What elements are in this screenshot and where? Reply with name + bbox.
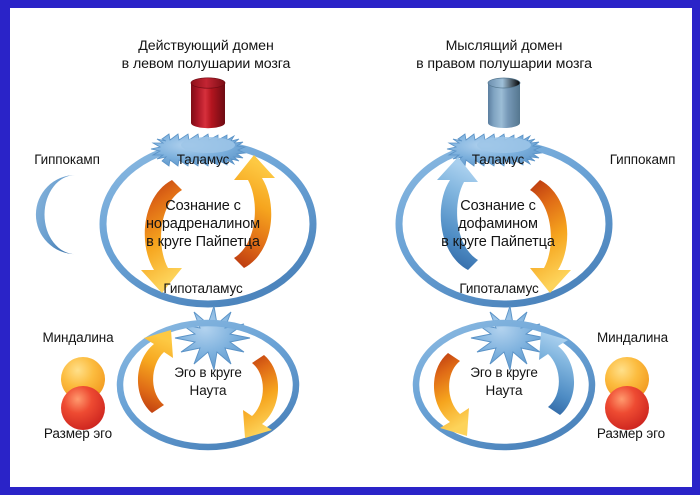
left-amygdala-label: Миндалина bbox=[23, 330, 133, 346]
right-amygdala-label: Миндалина bbox=[575, 330, 690, 346]
right-cylinder-blue bbox=[488, 78, 520, 128]
right-hypothalamus-label: Гипоталамус bbox=[434, 281, 564, 297]
right-header-line1: Мыслящий домен bbox=[370, 38, 638, 55]
left-hippocampus-crescent bbox=[36, 175, 76, 254]
left-thalamus-label: Таламус bbox=[148, 152, 258, 168]
right-ego-size-label: Размер эго bbox=[573, 426, 689, 442]
right-consciousness-line3: в круге Пайпетца bbox=[413, 234, 583, 251]
diagram-graphics bbox=[10, 8, 692, 487]
left-hypothalamus-star bbox=[175, 306, 250, 370]
left-amygdala-spheres bbox=[61, 357, 105, 430]
diagram-canvas: Действующий домен в левом полушарии мозг… bbox=[10, 8, 692, 487]
left-hypothalamus-label: Гипоталамус bbox=[138, 281, 268, 297]
right-header-line2: в правом полушарии мозга bbox=[370, 56, 638, 73]
right-amygdala-spheres bbox=[605, 357, 649, 430]
diagram-frame: Действующий домен в левом полушарии мозг… bbox=[0, 0, 700, 495]
right-hypothalamus-star bbox=[471, 306, 546, 370]
left-consciousness-line1: Сознание с bbox=[128, 198, 278, 215]
right-hippocampus-label: Гиппокамп bbox=[585, 152, 692, 168]
right-thalamus-label: Таламус bbox=[443, 152, 553, 168]
left-cylinder-red bbox=[191, 78, 225, 128]
left-ego-size-label: Размер эго bbox=[20, 426, 136, 442]
right-consciousness-line2: дофамином bbox=[413, 216, 583, 233]
left-header-line2: в левом полушарии мозга bbox=[72, 56, 340, 73]
left-consciousness-line2: норадреналином bbox=[118, 216, 288, 233]
left-header-line1: Действующий домен bbox=[72, 38, 340, 55]
left-ego-line2: Наута bbox=[148, 383, 268, 399]
right-ego-line2: Наута bbox=[444, 383, 564, 399]
right-consciousness-line1: Сознание с bbox=[423, 198, 573, 215]
right-ego-line1: Эго в круге bbox=[444, 365, 564, 381]
left-ego-line1: Эго в круге bbox=[148, 365, 268, 381]
left-consciousness-line3: в круге Пайпетца bbox=[118, 234, 288, 251]
left-hippocampus-label: Гиппокамп bbox=[12, 152, 122, 168]
